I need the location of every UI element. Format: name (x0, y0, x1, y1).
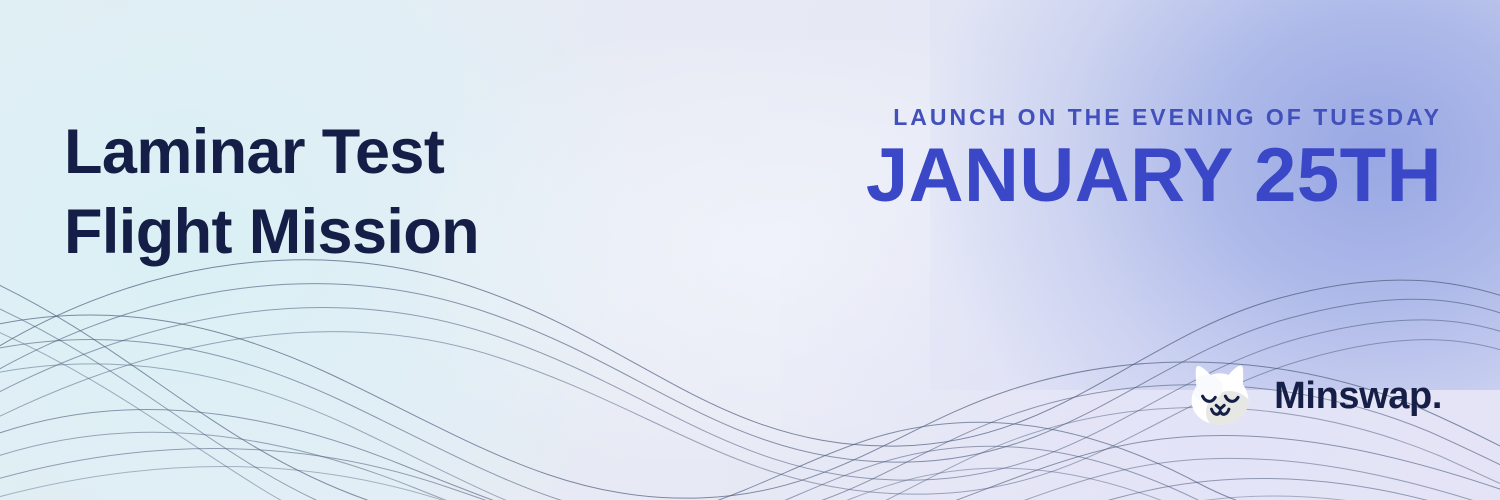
launch-date-text: JANUARY 25TH (866, 137, 1442, 215)
launch-date-block: LAUNCH ON THE EVENING OF TUESDAY JANUARY… (866, 104, 1442, 215)
minswap-brand-lockup: Minswap. (1184, 360, 1442, 432)
promo-banner: Laminar Test Flight Mission LAUNCH ON TH… (0, 0, 1500, 500)
minswap-cat-icon (1184, 360, 1256, 432)
minswap-wordmark: Minswap. (1274, 377, 1442, 415)
launch-kicker-text: LAUNCH ON THE EVENING OF TUESDAY (866, 104, 1442, 131)
banner-headline: Laminar Test Flight Mission (64, 112, 479, 272)
